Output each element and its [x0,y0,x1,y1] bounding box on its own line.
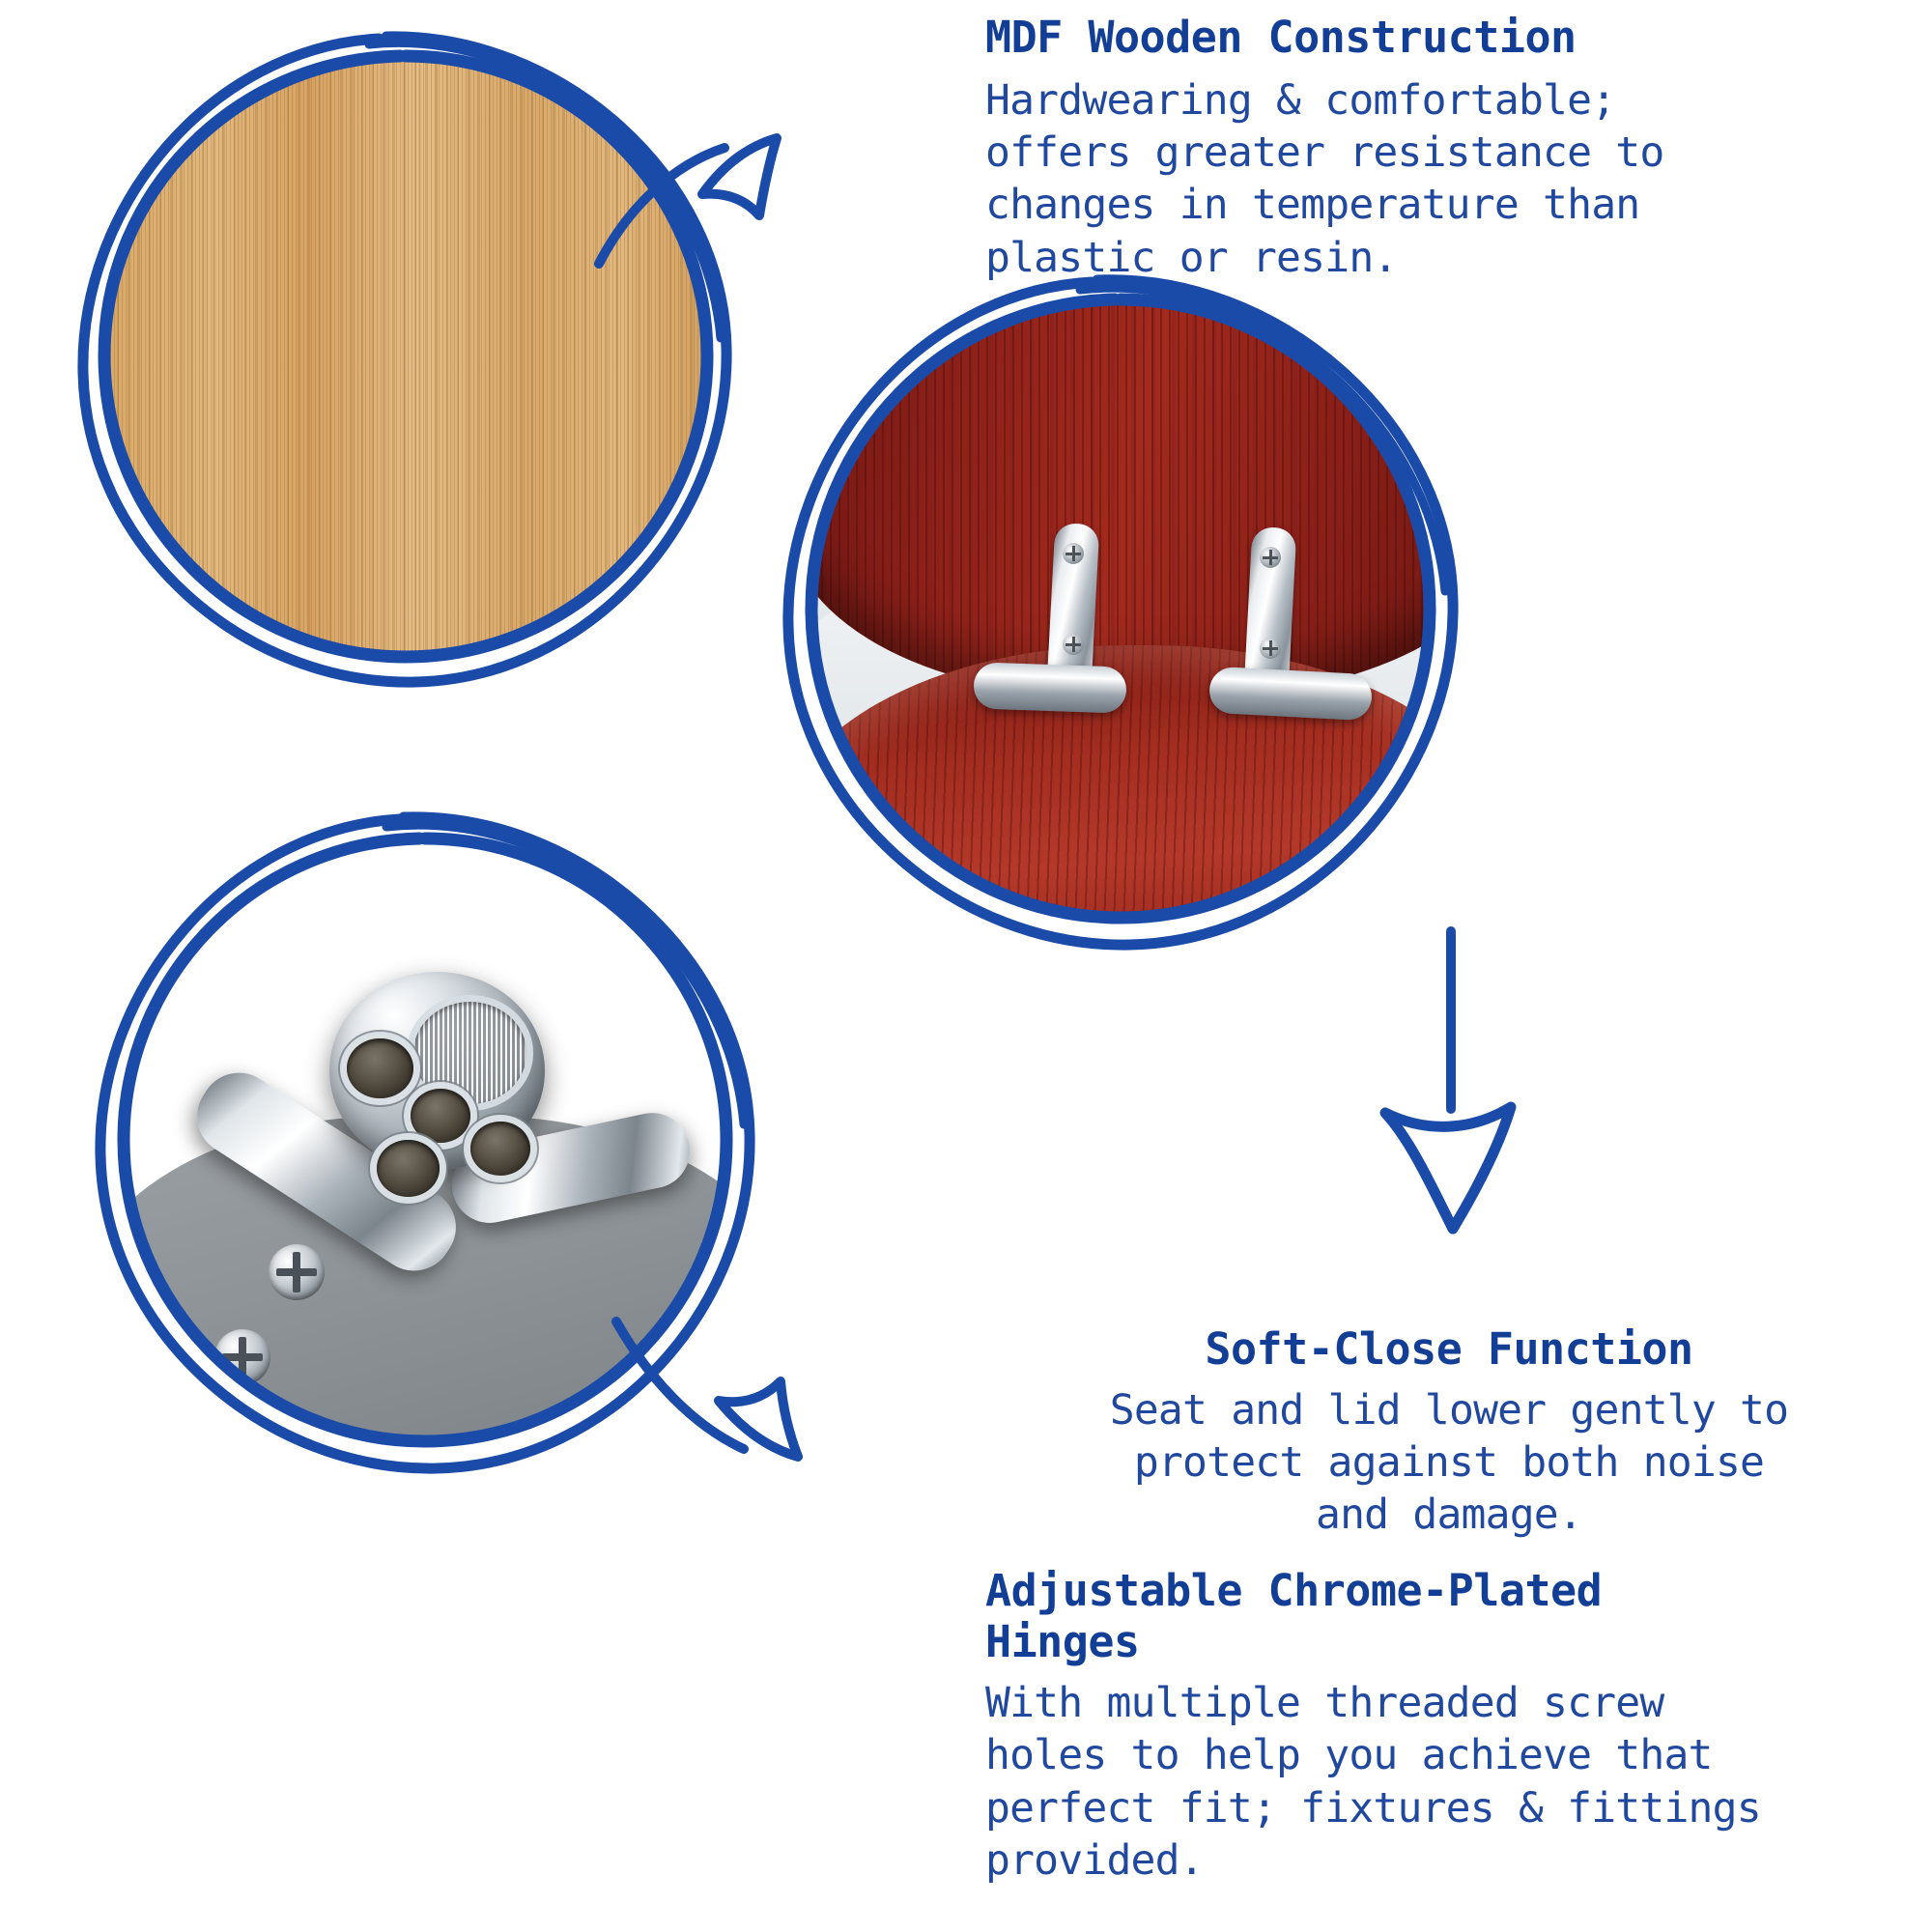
hinge-screw-right-top [1260,547,1281,568]
feature-body: Hardwearing & comfortable; offers greate… [985,74,1893,284]
arrow-down-icon [1364,927,1538,1246]
body-line: Hardwearing & comfortable; [985,76,1615,125]
arrow-up-right-icon [580,92,831,275]
body-line: With multiple threaded screw [985,1679,1663,1727]
red-toilet-seat-hinges-circle [811,299,1430,918]
feature-image-soft-close-function [773,261,1468,956]
body-line: protect against both noise [1134,1438,1764,1487]
feature-heading: Soft-Close Function [966,1323,1932,1375]
body-line: holes to help you achieve that [985,1731,1713,1779]
body-line: Seat and lid lower gently to [1110,1386,1788,1435]
threaded-screw-hole-1 [347,1038,412,1098]
phillips-screw-lower [214,1329,270,1385]
feature-body: Seat and lid lower gently to protect aga… [966,1384,1932,1542]
infographic-canvas: MDF Wooden Construction Hardwearing & co… [0,0,1932,1932]
body-line: offers greater resistance to [985,128,1663,177]
feature-heading: Adjustable Chrome-Plated Hinges [985,1565,1913,1667]
body-line: and damage. [1316,1491,1582,1539]
hinge-screw-left-top [1063,543,1084,564]
toilet-lid-red-wood [811,299,1430,696]
heading-line: Hinges [985,1616,1140,1667]
heading-line: Adjustable Chrome-Plated [985,1565,1602,1616]
feature-heading: MDF Wooden Construction [985,12,1893,63]
hinge-screw-left-bottom [1063,634,1084,655]
feature-body: With multiple threaded screw holes to he… [985,1677,1913,1887]
body-line: provided. [985,1836,1204,1885]
threaded-screw-hole-2 [411,1089,470,1143]
arrow-down-right-icon [599,1304,850,1497]
feature-text-adjustable-chrome-plated-hinges: Adjustable Chrome-Plated Hinges With mul… [985,1565,1913,1887]
hinge-screw-right-bottom [1260,638,1281,659]
hinge-spring-coil [413,1002,527,1103]
threaded-screw-hole-4 [470,1122,530,1176]
feature-text-mdf-wooden-construction: MDF Wooden Construction Hardwearing & co… [985,12,1893,284]
hinge-barrel-right [1208,667,1373,722]
hinge-barrel-left [973,662,1127,713]
body-line: perfect fit; fixtures & fittings [985,1784,1761,1833]
threaded-screw-hole-3 [377,1140,440,1197]
phillips-screw-upper [269,1244,325,1300]
body-line: changes in temperature than [985,181,1639,229]
feature-text-soft-close-function: Soft-Close Function Seat and lid lower g… [966,1323,1932,1542]
